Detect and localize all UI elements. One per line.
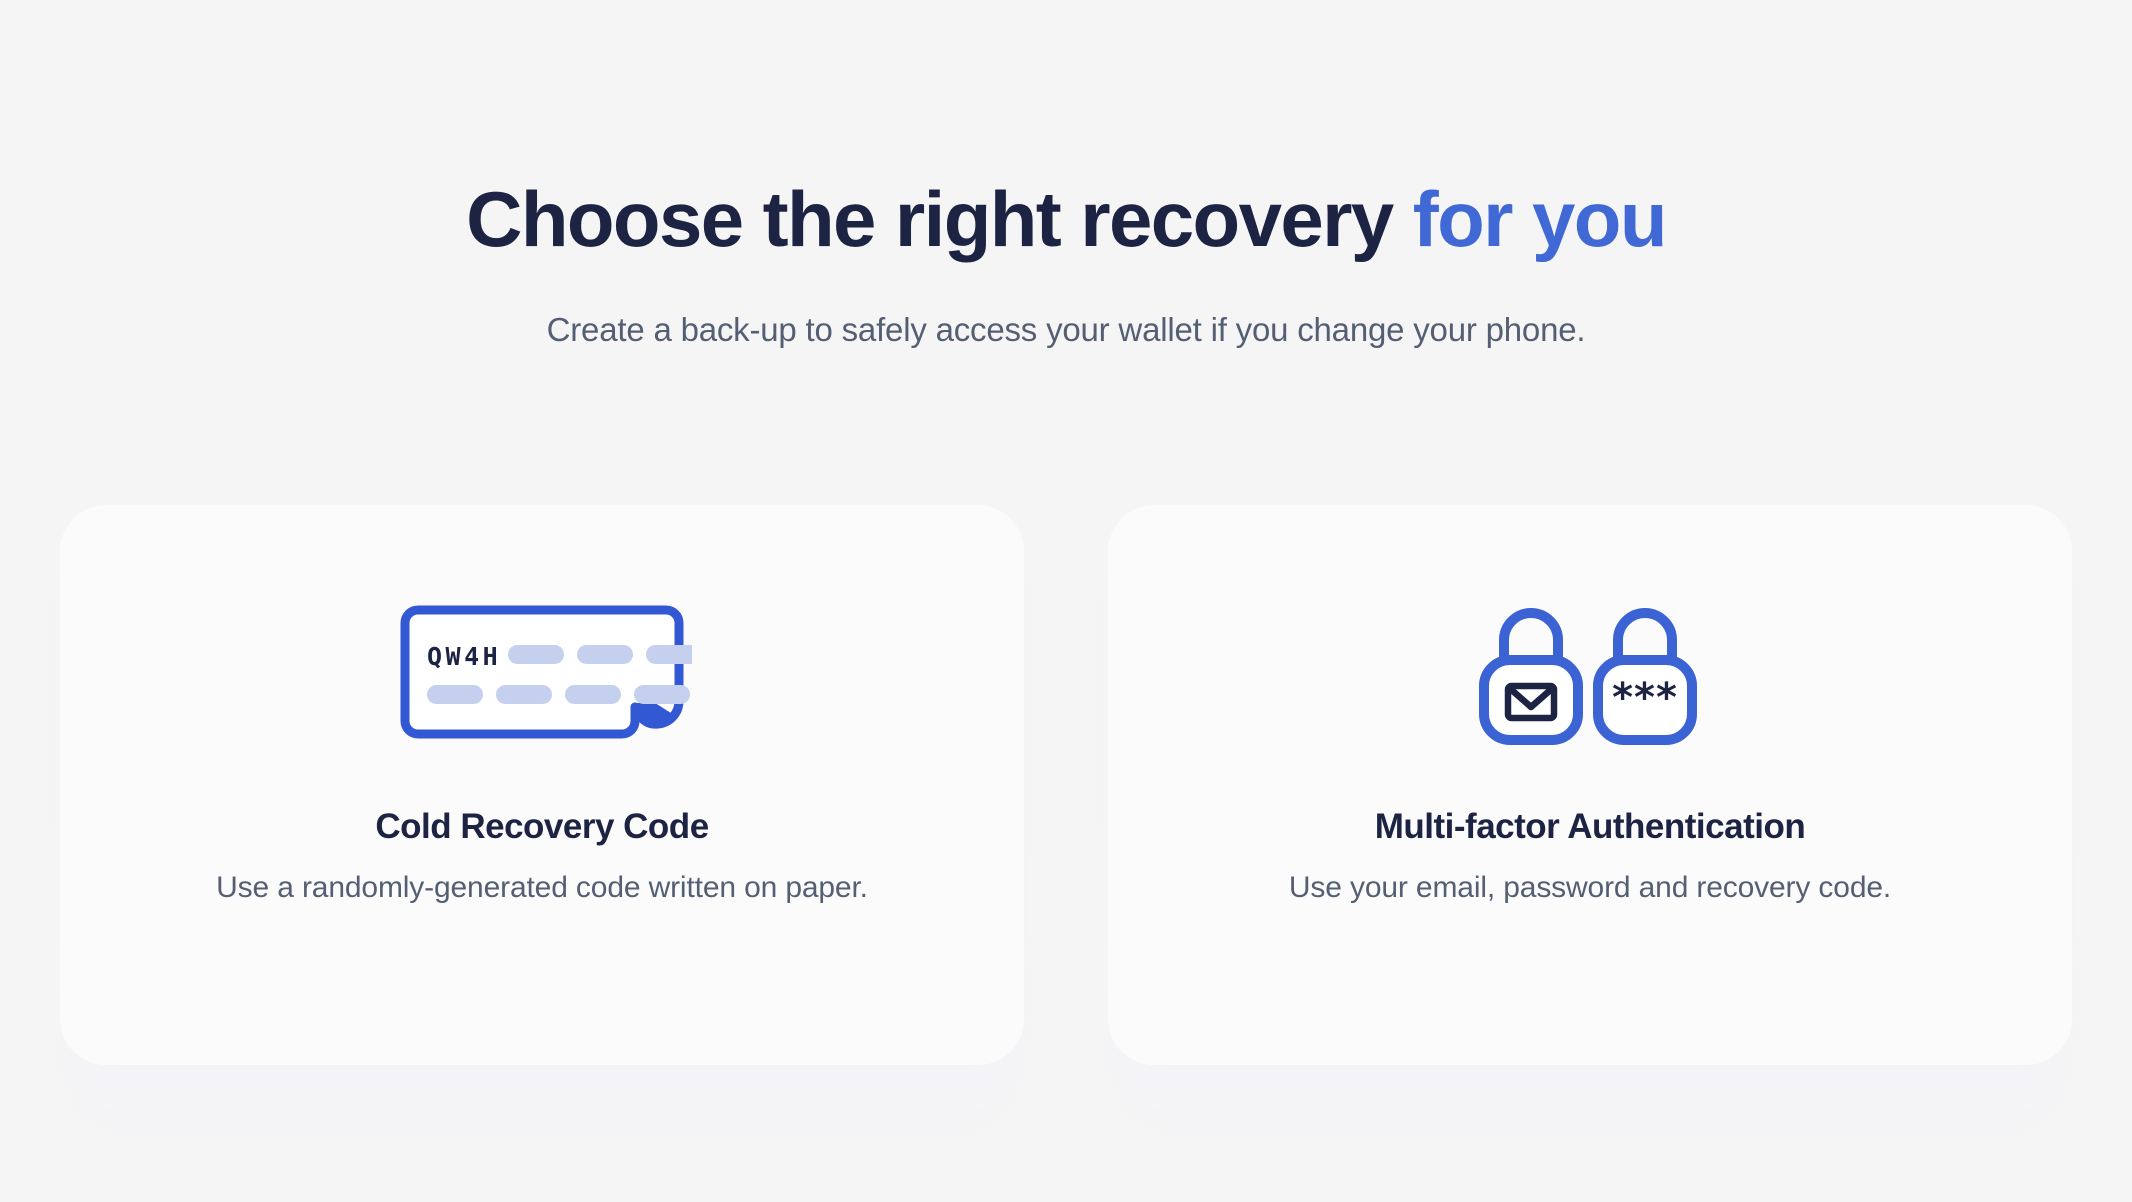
page-title: Choose the right recovery for you [0,178,2132,261]
card-description: Use your email, password and recovery co… [1289,871,1891,905]
recovery-option-card-wrapper: *** Multi-factor Authentication Use your… [1108,505,2072,1065]
card-title: Cold Recovery Code [375,807,708,847]
hero-section: Choose the right recovery for you Create… [0,178,2132,352]
recovery-option-card-cold-recovery-code[interactable]: QW4H Cold Recovery Code Use a randomly-g… [60,505,1024,1065]
padlock-email-icon [1484,613,1578,740]
icon-code-text: QW4H [427,642,501,671]
page-subtitle: Create a back-up to safely access your w… [0,309,2132,352]
icon-asterisks: *** [1612,675,1678,721]
two-padlocks-icon: *** [1470,597,1710,747]
paper-code-icon: QW4H [392,597,692,747]
card-description: Use a randomly-generated code written on… [216,871,868,905]
page-title-accent: for you [1413,175,1666,263]
padlock-password-icon: *** [1598,613,1692,740]
page-title-main: Choose the right recovery [466,175,1413,263]
recovery-options-list: QW4H Cold Recovery Code Use a randomly-g… [60,505,2072,1065]
card-title: Multi-factor Authentication [1375,807,1805,847]
recovery-method-chooser-page: Choose the right recovery for you Create… [0,0,2132,1202]
recovery-option-card-wrapper: QW4H Cold Recovery Code Use a randomly-g… [60,505,1024,1065]
recovery-option-card-multi-factor-authentication[interactable]: *** Multi-factor Authentication Use your… [1108,505,2072,1065]
